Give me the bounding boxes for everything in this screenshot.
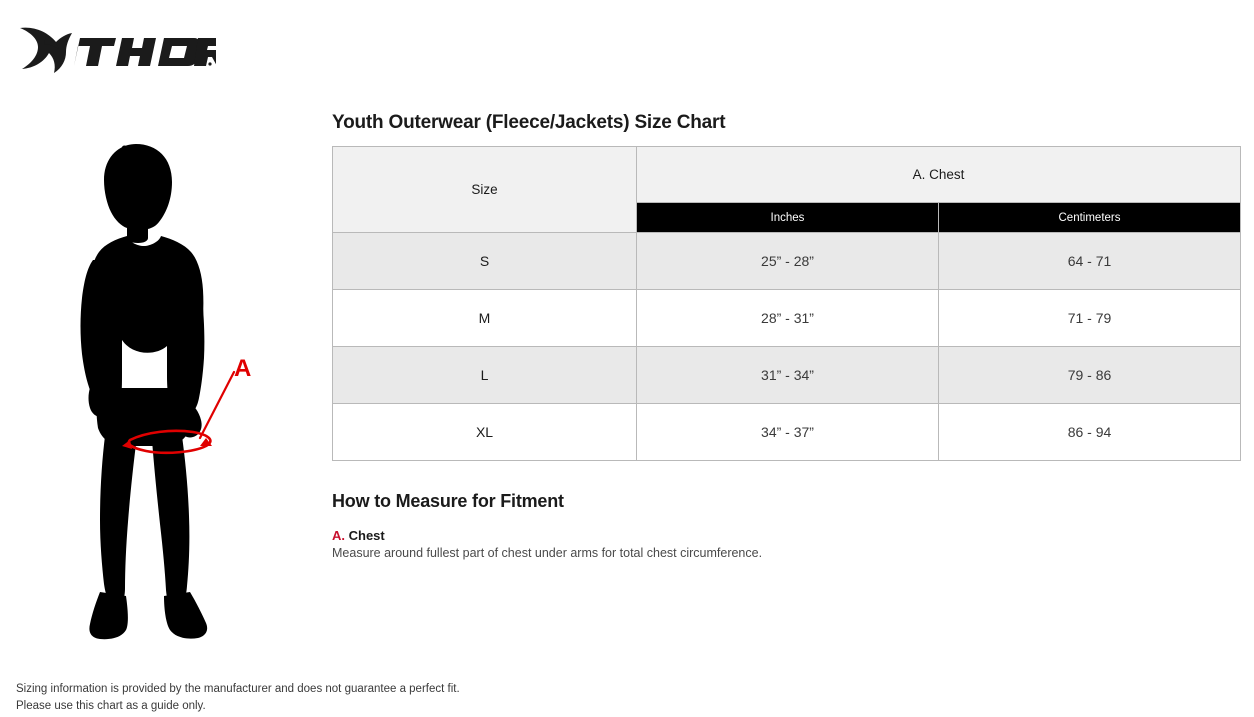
cell-chest-inches: 28” - 31” — [637, 290, 939, 347]
header-unit-centimeters: Centimeters — [939, 203, 1241, 233]
measure-item-chest: A. Chest Measure around fullest part of … — [332, 528, 1240, 560]
table-row: L 31” - 34” 79 - 86 — [333, 347, 1241, 404]
cell-chest-centimeters: 79 - 86 — [939, 347, 1241, 404]
chest-callout-label: A — [234, 355, 251, 382]
disclaimer-line-1: Sizing information is provided by the ma… — [16, 681, 460, 698]
disclaimer-line-2: Please use this chart as a guide only. — [16, 698, 460, 715]
cell-chest-centimeters: 71 - 79 — [939, 290, 1241, 347]
youth-body-silhouette — [81, 144, 208, 639]
cell-chest-centimeters: 86 - 94 — [939, 404, 1241, 461]
measure-item-description: Measure around fullest part of chest und… — [332, 546, 1240, 560]
table-row: S 25” - 28” 64 - 71 — [333, 233, 1241, 290]
how-to-measure-section: How to Measure for Fitment A. Chest Meas… — [332, 491, 1240, 560]
cell-size: L — [333, 347, 637, 404]
header-chest-group: A. Chest — [637, 147, 1241, 203]
table-header-row-primary: Size A. Chest — [333, 147, 1241, 203]
chest-callout-leader-line — [200, 372, 234, 438]
cell-chest-inches: 31” - 34” — [637, 347, 939, 404]
measure-heading: How to Measure for Fitment — [332, 491, 1240, 512]
page-title: Youth Outerwear (Fleece/Jackets) Size Ch… — [332, 112, 1240, 134]
header-unit-inches: Inches — [637, 203, 939, 233]
cell-chest-centimeters: 64 - 71 — [939, 233, 1241, 290]
header-size: Size — [333, 147, 637, 233]
table-row: XL 34” - 37” 86 - 94 — [333, 404, 1241, 461]
measure-item-key: A. — [332, 528, 345, 543]
chart-content-column: Youth Outerwear (Fleece/Jackets) Size Ch… — [332, 112, 1240, 560]
cell-chest-inches: 34” - 37” — [637, 404, 939, 461]
cell-size: S — [333, 233, 637, 290]
youth-figure-illustration: A — [60, 140, 275, 650]
table-row: M 28” - 31” 71 - 79 — [333, 290, 1241, 347]
measure-item-title: A. Chest — [332, 528, 1240, 543]
disclaimer: Sizing information is provided by the ma… — [16, 681, 460, 714]
cell-size: XL — [333, 404, 637, 461]
cell-chest-inches: 25” - 28” — [637, 233, 939, 290]
measure-item-name: Chest — [349, 528, 385, 543]
thor-brand-logo — [16, 22, 216, 82]
cell-size: M — [333, 290, 637, 347]
size-chart-table: Size A. Chest Inches Centimeters S 25” -… — [332, 146, 1241, 461]
